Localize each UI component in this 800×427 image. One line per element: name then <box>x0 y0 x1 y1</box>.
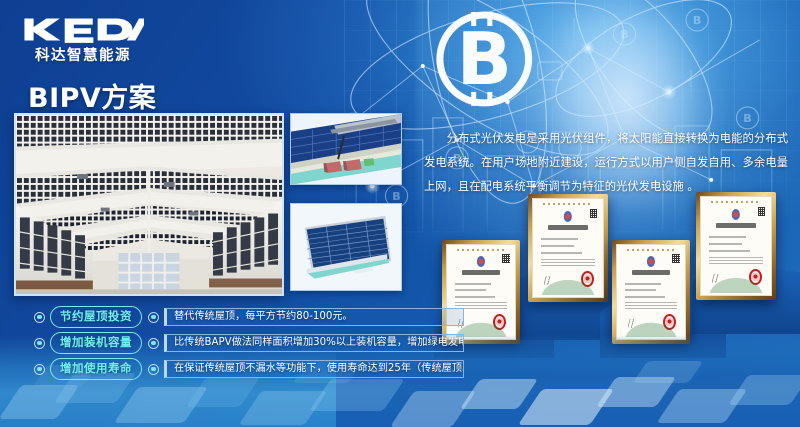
keda-wordmark-icon <box>22 16 144 43</box>
brand-logo: 科达智慧能源 <box>22 16 144 65</box>
page-title: BIPV方案 <box>28 76 156 115</box>
bullet-dot-icon <box>148 364 159 375</box>
bipv-skylight-atrium-photo <box>14 113 284 296</box>
patent-certificate[interactable] <box>696 192 776 300</box>
solar-panel-module-render <box>290 203 402 291</box>
feature-tag: 增加装机容量 <box>50 332 142 354</box>
solar-panel-mounting-detail-render <box>290 113 402 185</box>
svg-text:B: B <box>392 190 400 203</box>
svg-text:B: B <box>457 18 512 102</box>
patent-certificate[interactable] <box>612 240 690 344</box>
brand-logo-cn: 科达智慧能源 <box>22 44 144 65</box>
bullet-dot-icon <box>148 338 159 349</box>
feature-row: 节约屋顶投资 替代传统屋顶，每平方节约80-100元。 <box>34 306 464 328</box>
bullet-dot-icon <box>34 312 45 323</box>
feature-description: 替代传统屋顶，每平方节约80-100元。 <box>164 308 464 326</box>
feature-tag: 增加使用寿命 <box>50 358 142 380</box>
feature-description: 在保证传统屋顶不漏水等功能下，使用寿命达到25年（传统屋顶5-10年左右）。 <box>164 360 464 378</box>
poster-canvas: BB BB B B 科达智慧能源 BIPV方案 <box>0 0 800 427</box>
patent-certificate[interactable] <box>528 194 608 302</box>
bullet-dot-icon <box>34 364 45 375</box>
feature-description: 比传统BAPV做法同样面积增加30%以上装机容量，增加绿电发电量。 <box>164 334 464 352</box>
certificate-gallery <box>440 188 800 358</box>
feature-row: 增加装机容量 比传统BAPV做法同样面积增加30%以上装机容量，增加绿电发电量。 <box>34 332 464 354</box>
feature-list: 节约屋顶投资 替代传统屋顶，每平方节约80-100元。 增加装机容量 比传统BA… <box>34 306 464 384</box>
feature-row: 增加使用寿命 在保证传统屋顶不漏水等功能下，使用寿命达到25年（传统屋顶5-10… <box>34 358 464 380</box>
bullet-dot-icon <box>148 312 159 323</box>
bitcoin-icon: B <box>440 12 529 106</box>
feature-tag: 节约屋顶投资 <box>50 306 142 328</box>
bullet-dot-icon <box>34 338 45 349</box>
